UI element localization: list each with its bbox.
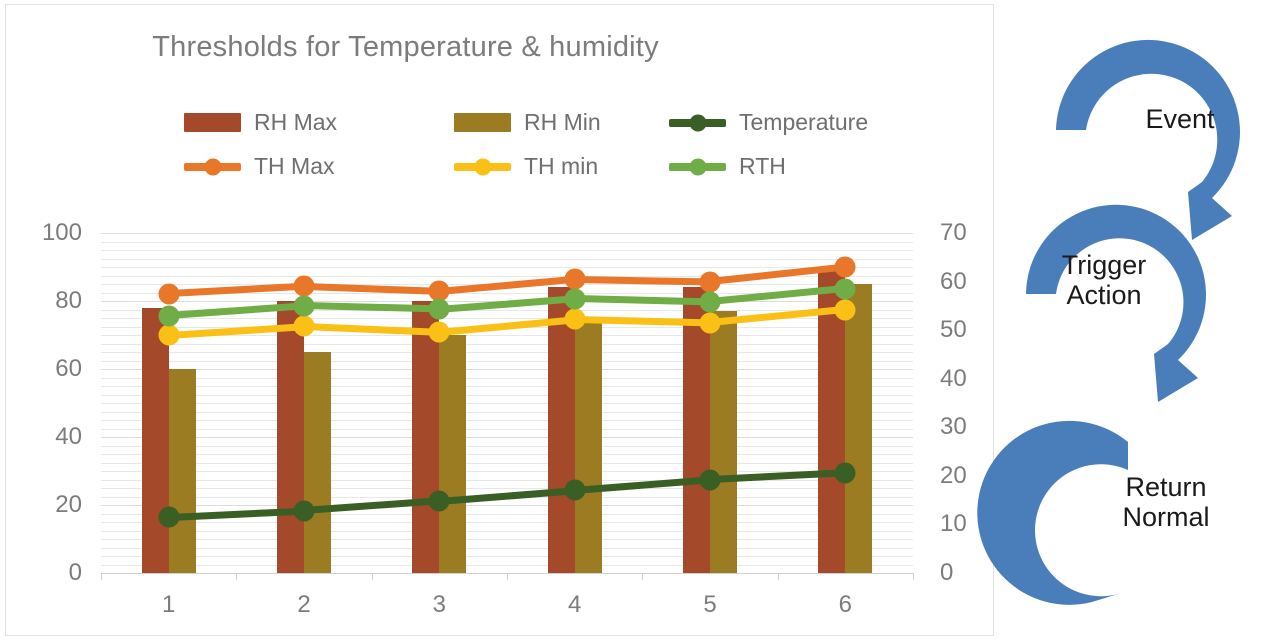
y-axis-left-tick: 20 xyxy=(10,491,82,519)
data-point-temperature xyxy=(564,480,585,501)
gridline-major xyxy=(101,233,913,234)
data-point-rth xyxy=(429,299,450,320)
x-axis-tick xyxy=(642,573,643,580)
gridline-major xyxy=(101,369,913,370)
gridline-minor xyxy=(101,352,913,353)
y-axis-left-tick: 60 xyxy=(10,355,82,383)
x-axis-label: 3 xyxy=(433,591,446,619)
line-segment-th-max xyxy=(168,283,304,297)
gridline-minor xyxy=(101,386,913,387)
data-point-temperature xyxy=(835,462,856,483)
data-point-temperature xyxy=(158,507,179,528)
bar-rh-min xyxy=(845,284,872,573)
y-axis-right-tick: 50 xyxy=(940,316,1000,344)
y-axis-right-tick: 40 xyxy=(940,365,1000,393)
gridline-minor xyxy=(101,361,913,362)
gridline-minor xyxy=(101,488,913,489)
x-axis-label: 1 xyxy=(162,591,175,619)
gridline-minor xyxy=(101,454,913,455)
y-axis-right-tick: 60 xyxy=(940,268,1000,296)
x-axis-label: 5 xyxy=(703,591,716,619)
gridline-minor xyxy=(101,420,913,421)
data-point-th-max xyxy=(564,269,585,290)
y-axis-left-labels: 020406080100 xyxy=(6,5,86,637)
data-point-th-max xyxy=(700,271,721,292)
bar-rh-min xyxy=(710,311,737,573)
gridline-minor xyxy=(101,480,913,481)
bar-rh-min xyxy=(304,352,331,573)
data-point-rth xyxy=(564,288,585,309)
data-point-th-max xyxy=(158,283,179,304)
data-point-th-max xyxy=(294,276,315,297)
x-axis-tick xyxy=(372,573,373,580)
bar-rh-max xyxy=(277,301,304,573)
gridline-minor xyxy=(101,242,913,243)
plot-area: 020406080100 010203040506070 123456 xyxy=(6,5,995,637)
data-point-th-min xyxy=(700,312,721,333)
gridline-minor xyxy=(101,446,913,447)
gridline-minor xyxy=(101,548,913,549)
data-point-rth xyxy=(294,295,315,316)
bar-rh-max xyxy=(548,287,575,573)
y-axis-left-tick: 0 xyxy=(10,559,82,587)
gridline-major xyxy=(101,505,913,506)
data-point-rth xyxy=(700,291,721,312)
x-axis-tick xyxy=(778,573,779,580)
flow-label-return-normal: Return Normal xyxy=(1086,472,1246,532)
y-axis-left-tick: 80 xyxy=(10,287,82,315)
gridline-minor xyxy=(101,250,913,251)
chart-panel: Thresholds for Temperature & humidity RH… xyxy=(5,4,994,636)
bar-rh-min xyxy=(575,321,602,573)
data-point-th-min xyxy=(158,325,179,346)
x-axis-tick xyxy=(913,573,914,580)
gridline-minor xyxy=(101,539,913,540)
data-point-temperature xyxy=(429,491,450,512)
data-point-th-min xyxy=(429,322,450,343)
data-point-th-min xyxy=(564,309,585,330)
y-axis-right-tick: 70 xyxy=(940,219,1000,247)
x-axis-label: 6 xyxy=(839,591,852,619)
data-point-temperature xyxy=(294,500,315,521)
gridline-minor xyxy=(101,556,913,557)
flow-label-event: Event xyxy=(1110,104,1250,134)
bar-rh-max xyxy=(142,308,169,573)
gridline-minor xyxy=(101,395,913,396)
y-axis-left-tick: 40 xyxy=(10,423,82,451)
line-segment-rth xyxy=(304,302,440,312)
data-point-th-max xyxy=(835,257,856,278)
gridline-major xyxy=(101,437,913,438)
y-axis-left-tick: 100 xyxy=(10,219,82,247)
gridline-minor xyxy=(101,429,913,430)
gridline-minor xyxy=(101,403,913,404)
data-point-th-min xyxy=(835,299,856,320)
gridline-minor xyxy=(101,267,913,268)
y-axis-right-tick: 30 xyxy=(940,413,1000,441)
gridline-minor xyxy=(101,463,913,464)
gridline-minor xyxy=(101,412,913,413)
x-axis-tick xyxy=(236,573,237,580)
gridline-minor xyxy=(101,259,913,260)
x-axis-tick xyxy=(101,573,102,580)
bar-rh-min xyxy=(439,335,466,573)
flow-label-trigger-action: Trigger Action xyxy=(1024,250,1184,310)
gridline-minor xyxy=(101,565,913,566)
data-point-rth xyxy=(158,305,179,326)
gridline-minor xyxy=(101,378,913,379)
data-point-temperature xyxy=(700,469,721,490)
y-axis-right-tick: 0 xyxy=(940,559,1000,587)
bar-rh-min xyxy=(169,369,196,573)
data-point-rth xyxy=(835,278,856,299)
process-flow-diagram: Event Trigger Action Return Normal xyxy=(1000,0,1280,641)
x-axis-label: 4 xyxy=(568,591,581,619)
gridline-minor xyxy=(101,522,913,523)
x-axis-label: 2 xyxy=(297,591,310,619)
gridline-minor xyxy=(101,344,913,345)
x-axis-tick xyxy=(507,573,508,580)
gridline-minor xyxy=(101,531,913,532)
data-point-th-min xyxy=(294,316,315,337)
